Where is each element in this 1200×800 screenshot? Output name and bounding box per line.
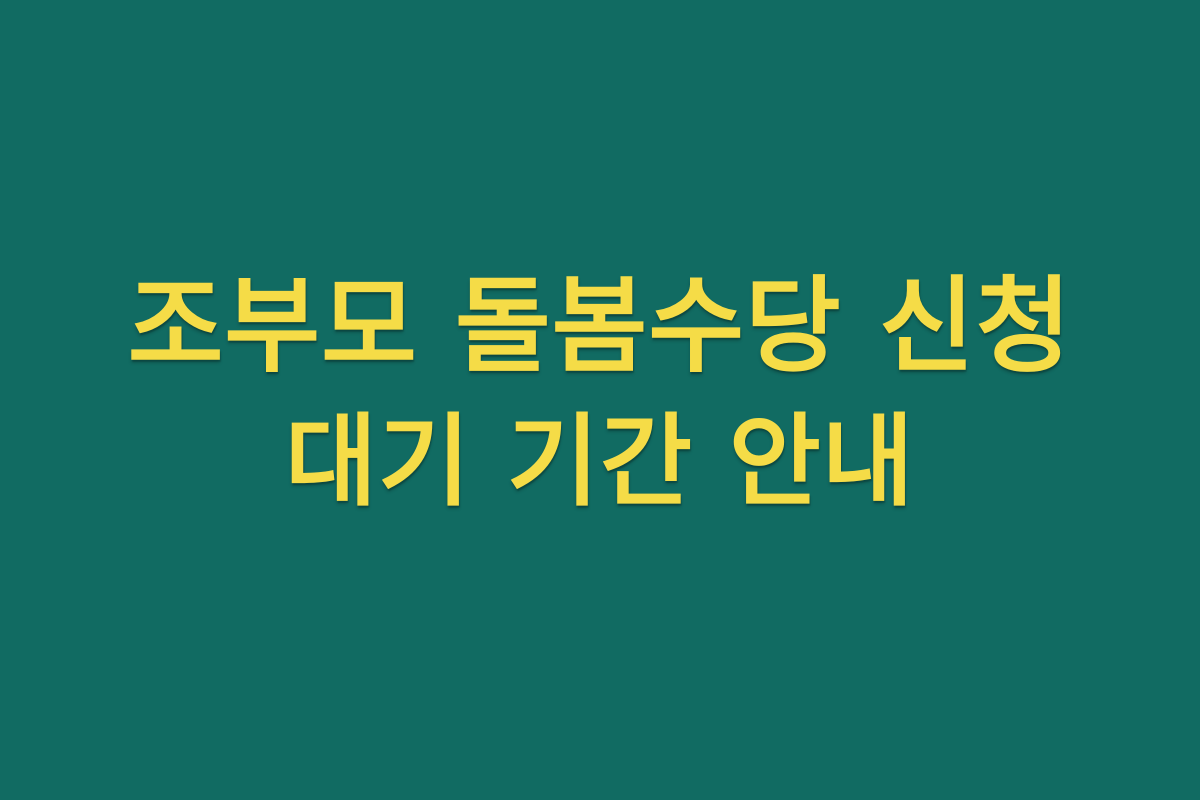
title-line-1: 조부모 돌봄수당 신청 bbox=[0, 259, 1200, 394]
title-line-2: 대기 기간 안내 bbox=[0, 394, 1200, 529]
banner-card: 조부모 돌봄수당 신청 대기 기간 안내 bbox=[0, 0, 1200, 800]
title-block: 조부모 돌봄수당 신청 대기 기간 안내 bbox=[0, 259, 1200, 529]
